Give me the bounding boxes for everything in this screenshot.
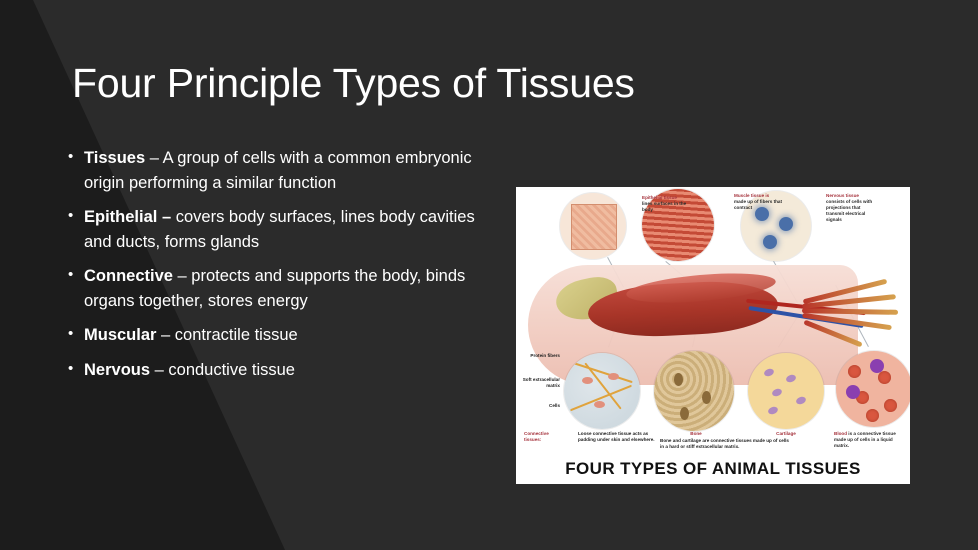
page-title: Four Principle Types of Tissues	[72, 60, 892, 107]
list-item-separator: –	[173, 267, 191, 285]
list-item-text: Nervous – conductive tissue	[84, 358, 498, 383]
label-blood: Blood is a connective tissue made up of …	[834, 431, 900, 449]
list-item-text: Tissues – A group of cells with a common…	[84, 146, 498, 196]
label-cells: Cells	[526, 403, 560, 409]
diagram-canvas: Epithelial tissue lines surfaces in the …	[516, 187, 910, 484]
figure-caption: FOUR TYPES OF ANIMAL TISSUES	[516, 456, 910, 482]
label-muscle-text: made up of fibers that contract	[734, 199, 782, 210]
label-soft-matrix: Soft extracellular matrix	[522, 377, 560, 389]
bullet-marker-icon: •	[68, 205, 84, 228]
bullet-marker-icon: •	[68, 358, 84, 381]
red-blood-cell-icon	[884, 399, 897, 412]
list-item-term: Connective	[84, 267, 173, 285]
haversian-canal-icon	[680, 407, 689, 420]
white-blood-cell-icon	[870, 359, 884, 373]
label-epithelial-heading: Epithelial tissue	[642, 195, 677, 200]
list-item: • Epithelial – covers body surfaces, lin…	[68, 205, 498, 255]
list-item-separator: –	[156, 326, 174, 344]
list-item-term: Tissues	[84, 149, 145, 167]
list-item-separator: –	[150, 361, 168, 379]
cartilage-inset-circle	[748, 353, 824, 429]
hand-illustration	[802, 283, 904, 353]
label-nervous-heading: Nervous tissue	[826, 193, 859, 198]
list-item-text: Connective – protects and supports the b…	[84, 264, 498, 314]
bullet-list: • Tissues – A group of cells with a comm…	[68, 146, 498, 392]
label-protein-fibers: Protein fibers	[524, 353, 560, 359]
lacuna-icon	[763, 368, 775, 378]
slide-canvas: Four Principle Types of Tissues • Tissue…	[0, 0, 978, 550]
label-cartilage-title: Cartilage	[758, 431, 814, 437]
connective-cell-icon	[582, 377, 593, 384]
list-item-text: Epithelial – covers body surfaces, lines…	[84, 205, 498, 255]
bone-inset-circle	[654, 351, 734, 431]
red-blood-cell-icon	[878, 371, 891, 384]
list-item-text: Muscular – contractile tissue	[84, 323, 498, 348]
haversian-canal-icon	[702, 391, 711, 404]
list-item: • Muscular – contractile tissue	[68, 323, 498, 348]
neuron-icon	[763, 235, 777, 249]
connective-cell-icon	[608, 373, 619, 380]
label-nervous-text: consists of cells with projections that …	[826, 199, 872, 222]
connective-cell-icon	[594, 401, 605, 408]
label-bone-title: Bone	[666, 431, 726, 437]
list-item-term: Muscular	[84, 326, 156, 344]
list-item-body: conductive tissue	[168, 361, 295, 379]
label-nervous: Nervous tissue consists of cells with pr…	[826, 193, 878, 223]
label-epithelial-text: lines surfaces in the body	[642, 201, 686, 212]
bullet-marker-icon: •	[68, 264, 84, 287]
list-item-body: contractile tissue	[175, 326, 298, 344]
tissue-diagram-image: Epithelial tissue lines surfaces in the …	[516, 187, 910, 484]
lacuna-icon	[785, 374, 797, 384]
bullet-marker-icon: •	[68, 323, 84, 346]
loose-connective-inset-circle	[564, 353, 640, 429]
protein-fiber-icon	[569, 361, 632, 383]
haversian-canal-icon	[674, 373, 683, 386]
label-connective-heading: Connective tissues:	[524, 431, 566, 443]
white-blood-cell-icon	[846, 385, 860, 399]
list-item-term: Nervous	[84, 361, 150, 379]
term-word: Epithelial	[84, 208, 157, 226]
label-epithelial: Epithelial tissue lines surfaces in the …	[642, 195, 688, 213]
connective-heading-text: Connective tissues:	[524, 431, 549, 442]
label-bone-text: Bone and cartilage are connective tissue…	[660, 438, 790, 450]
blood-inset-circle	[836, 351, 910, 427]
lacuna-icon	[767, 406, 779, 416]
label-loose-connective: Loose connective tissue acts as padding …	[578, 431, 656, 443]
epithelial-inset-circle	[560, 193, 626, 259]
list-item: • Connective – protects and supports the…	[68, 264, 498, 314]
term-separator: –	[157, 208, 175, 226]
list-item: • Tissues – A group of cells with a comm…	[68, 146, 498, 196]
list-item: • Nervous – conductive tissue	[68, 358, 498, 383]
list-item-separator: –	[145, 149, 162, 167]
list-item-term: Epithelial –	[84, 208, 176, 226]
label-muscle-heading: Muscle tissue is	[734, 193, 769, 198]
label-blood-heading: Blood	[834, 431, 847, 436]
epithelial-cube-icon	[571, 204, 617, 250]
label-muscle: Muscle tissue is made up of fibers that …	[734, 193, 784, 211]
lacuna-icon	[771, 388, 783, 398]
lacuna-icon	[795, 396, 807, 406]
bullet-marker-icon: •	[68, 146, 84, 169]
red-blood-cell-icon	[848, 365, 861, 378]
neuron-icon	[779, 217, 793, 231]
red-blood-cell-icon	[866, 409, 879, 422]
